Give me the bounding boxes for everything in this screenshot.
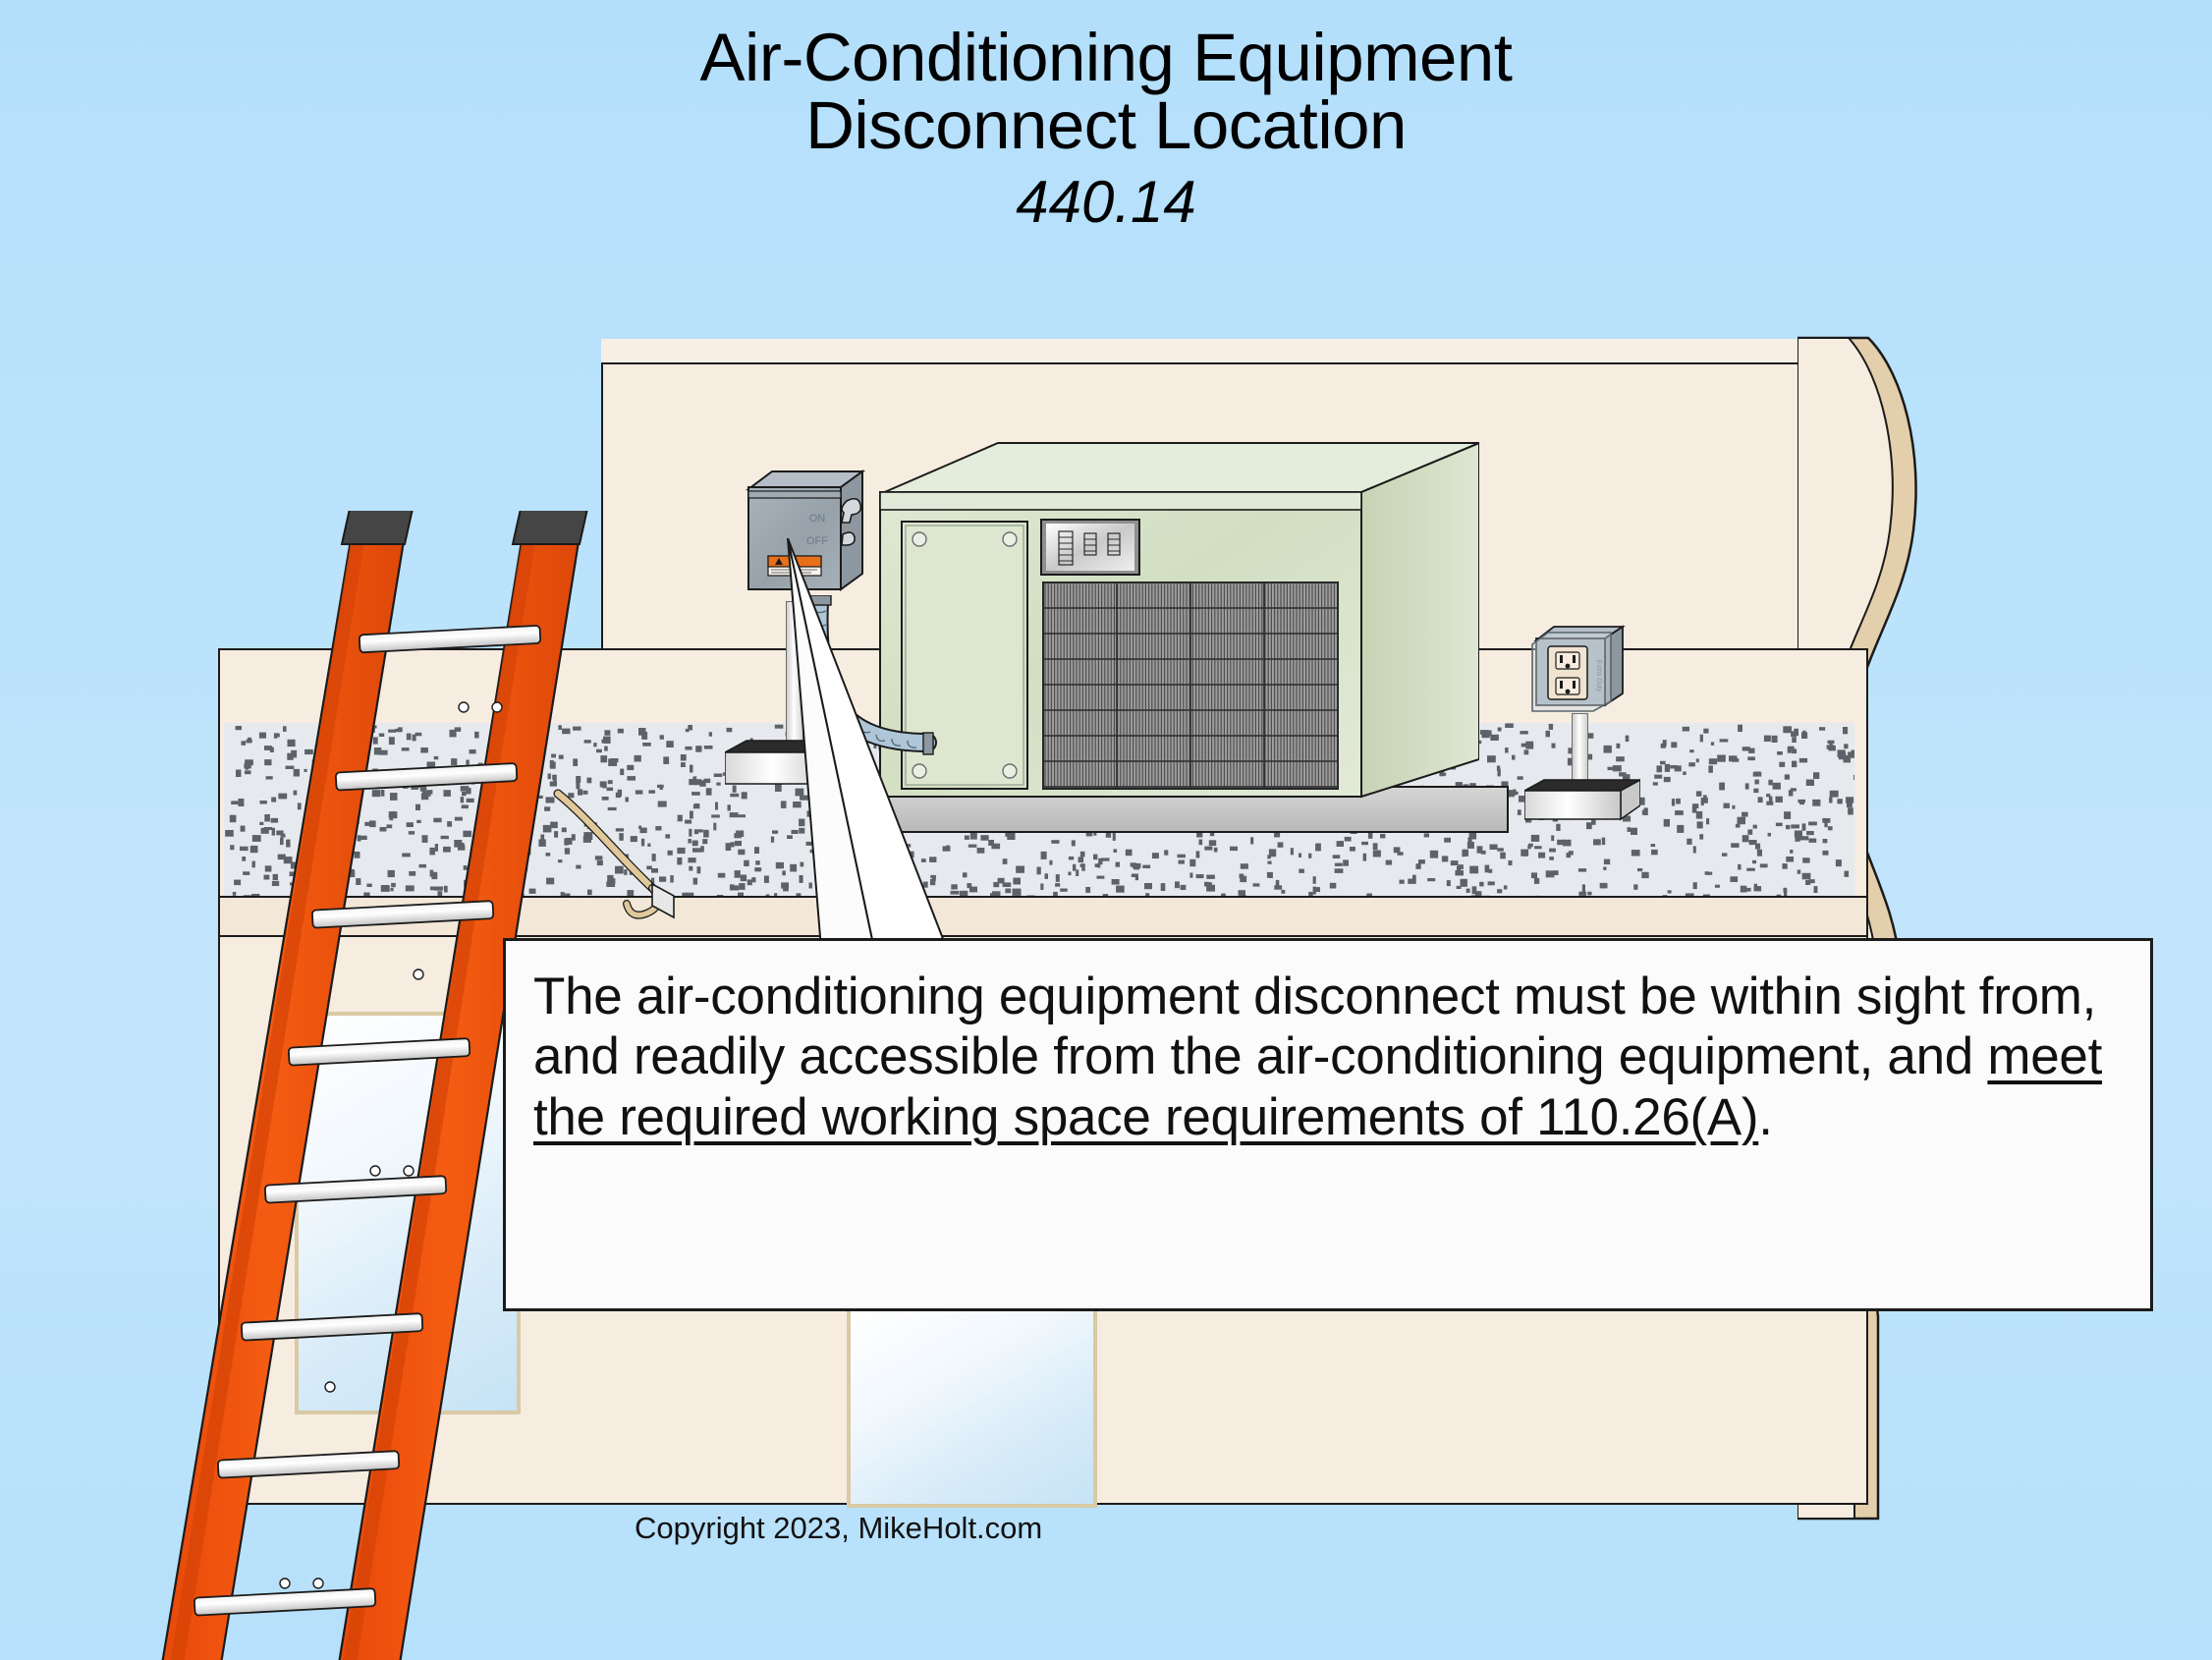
- weatherproof-receptacle[interactable]: Extra Duty: [1528, 621, 1634, 719]
- illustration-canvas: ON OFF: [0, 0, 2212, 1660]
- receptacle-cover-text: Extra Duty: [1595, 660, 1602, 692]
- copyright-notice: Copyright 2023, MikeHolt.com: [635, 1511, 1042, 1546]
- callout-leader-line: [727, 538, 1080, 961]
- title-line-2: Disconnect Location: [0, 91, 2212, 159]
- receptacle-base-block: [1524, 778, 1640, 821]
- disconnect-on-label: ON: [809, 513, 826, 525]
- parapet-cap-top: [601, 339, 1868, 364]
- callout-text-part1: The air-conditioning equipment disconnec…: [533, 968, 2096, 1085]
- page-title: Air-Conditioning Equipment Disconnect Lo…: [0, 24, 2212, 232]
- title-line-1: Air-Conditioning Equipment: [0, 24, 2212, 91]
- roof-hook-tool: [550, 786, 747, 923]
- callout-text-part3: .: [1758, 1088, 1772, 1146]
- window-center: [847, 1306, 1097, 1508]
- nec-article-number: 440.14: [0, 173, 2212, 232]
- callout-textbox: The air-conditioning equipment disconnec…: [503, 938, 2153, 1311]
